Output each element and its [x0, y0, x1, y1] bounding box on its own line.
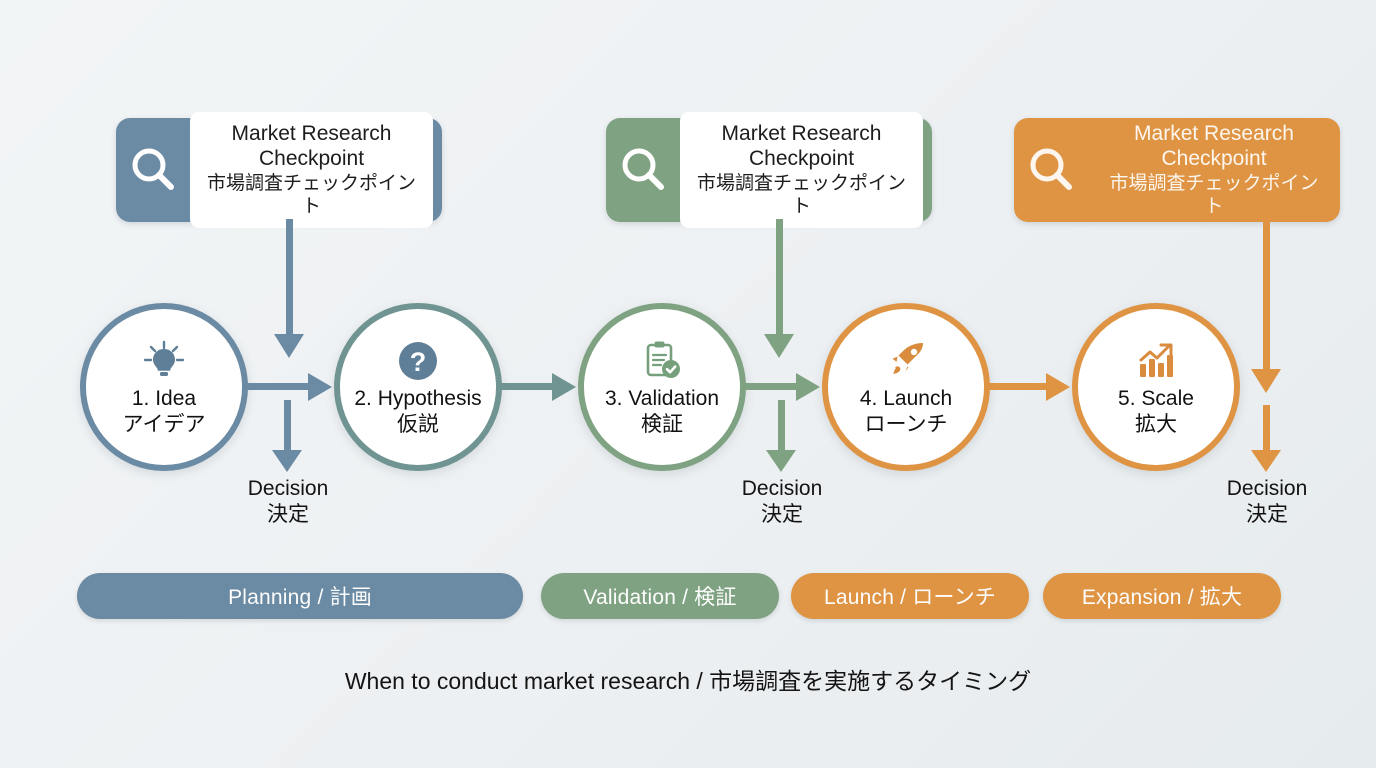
- checkpoint-title-jp: 市場調査チェックポイント: [690, 172, 913, 218]
- stage-node-label: 1. Idea アイデア: [123, 386, 206, 438]
- legend-pill-label: Launch / ローンチ: [824, 581, 996, 611]
- stage-node-scale[interactable]: 5. Scale 拡大: [1072, 303, 1240, 471]
- checkpoint-title-en-2: Checkpoint: [259, 147, 364, 170]
- checkpoint-3-connector-arrowhead: [1251, 369, 1281, 393]
- svg-text:?: ?: [410, 347, 427, 377]
- decision-arrow-2-head: [766, 450, 796, 472]
- checkpoint-1-connector-stem: [286, 219, 293, 334]
- decision-arrow-3-stem: [1263, 405, 1270, 450]
- flow-arrow-1-stem: [246, 383, 308, 390]
- legend-pill-label: Validation / 検証: [583, 581, 736, 611]
- flow-arrow-2-head: [552, 373, 576, 401]
- clipboard-check-icon: [639, 336, 685, 384]
- stage-label-jp: ローンチ: [860, 412, 952, 438]
- magnifier-icon: [606, 141, 680, 199]
- flow-arrow-1-head: [308, 373, 332, 401]
- stage-label-jp: 拡大: [1118, 412, 1194, 438]
- magnifier-icon: [116, 141, 190, 199]
- stage-label-jp: アイデア: [123, 412, 206, 438]
- question-mark-icon: ?: [395, 336, 441, 384]
- stage-node-label: 5. Scale 拡大: [1118, 386, 1194, 438]
- stage-node-label: 2. Hypothesis 仮説: [354, 386, 481, 438]
- checkpoint-card-text: Market Research Checkpoint 市場調査チェックポイント: [680, 112, 923, 229]
- stage-node-validation[interactable]: 3. Validation 検証: [578, 303, 746, 471]
- stage-node-launch[interactable]: 4. Launch ローンチ: [822, 303, 990, 471]
- decision-arrow-1-head: [272, 450, 302, 472]
- legend-pill-label: Planning / 計画: [228, 581, 372, 611]
- decision-label-en: Decision: [248, 477, 329, 500]
- checkpoint-card-text: Market Research Checkpoint 市場調査チェックポイント: [1098, 112, 1330, 229]
- diagram-caption: When to conduct market research / 市場調査を実…: [0, 662, 1376, 696]
- decision-arrow-1-stem: [284, 400, 291, 450]
- stage-label-en: 2. Hypothesis: [354, 387, 481, 410]
- decision-label-en: Decision: [742, 477, 823, 500]
- checkpoint-title-en-2: Checkpoint: [1161, 147, 1266, 170]
- decision-arrow-2-stem: [778, 400, 785, 450]
- stage-label-jp: 検証: [605, 412, 719, 438]
- magnifier-icon: [1014, 141, 1088, 199]
- legend-pill-expansion[interactable]: Expansion / 拡大: [1043, 573, 1281, 619]
- decision-arrow-3-head: [1251, 450, 1281, 472]
- stage-label-en: 3. Validation: [605, 387, 719, 410]
- checkpoint-title-jp: 市場調査チェックポイント: [200, 172, 423, 218]
- stage-node-label: 4. Launch ローンチ: [860, 386, 952, 438]
- checkpoint-card-validation[interactable]: Market Research Checkpoint 市場調査チェックポイント: [606, 118, 932, 222]
- decision-label-en: Decision: [1227, 477, 1308, 500]
- checkpoint-title-en-1: Market Research: [232, 122, 392, 145]
- stage-node-hypothesis[interactable]: ? 2. Hypothesis 仮説: [334, 303, 502, 471]
- growth-chart-icon: [1133, 336, 1179, 384]
- legend-pill-planning[interactable]: Planning / 計画: [77, 573, 523, 619]
- legend-pill-label: Expansion / 拡大: [1082, 581, 1242, 611]
- legend-pill-validation[interactable]: Validation / 検証: [541, 573, 779, 619]
- decision-label-jp: 決定: [198, 502, 378, 528]
- flow-arrow-4-head: [1046, 373, 1070, 401]
- stage-label-en: 4. Launch: [860, 387, 952, 410]
- decision-label-planning: Decision 決定: [198, 476, 378, 528]
- decision-label-validation: Decision 決定: [692, 476, 872, 528]
- decision-label-expansion: Decision 決定: [1177, 476, 1357, 528]
- checkpoint-card-expansion[interactable]: Market Research Checkpoint 市場調査チェックポイント: [1014, 118, 1340, 222]
- checkpoint-2-connector-stem: [776, 219, 783, 334]
- checkpoint-title-en-2: Checkpoint: [749, 147, 854, 170]
- decision-label-jp: 決定: [692, 502, 872, 528]
- flow-arrow-2-stem: [500, 383, 552, 390]
- stage-label-en: 5. Scale: [1118, 387, 1194, 410]
- stage-node-idea[interactable]: 1. Idea アイデア: [80, 303, 248, 471]
- flow-arrow-4-stem: [988, 383, 1046, 390]
- stage-label-en: 1. Idea: [132, 387, 196, 410]
- diagram-canvas: Market Research Checkpoint 市場調査チェックポイント …: [0, 0, 1376, 768]
- rocket-icon: [883, 336, 929, 384]
- checkpoint-3-connector-stem: [1263, 219, 1270, 369]
- checkpoint-title-jp: 市場調査チェックポイント: [1108, 172, 1320, 218]
- checkpoint-title-en-1: Market Research: [1134, 122, 1294, 145]
- lightbulb-icon: [141, 336, 187, 384]
- checkpoint-1-connector-arrowhead: [274, 334, 304, 358]
- stage-node-label: 3. Validation 検証: [605, 386, 719, 438]
- checkpoint-card-planning[interactable]: Market Research Checkpoint 市場調査チェックポイント: [116, 118, 442, 222]
- checkpoint-2-connector-arrowhead: [764, 334, 794, 358]
- flow-arrow-3-head: [796, 373, 820, 401]
- flow-arrow-3-stem: [744, 383, 796, 390]
- stage-label-jp: 仮説: [354, 412, 481, 438]
- checkpoint-card-text: Market Research Checkpoint 市場調査チェックポイント: [190, 112, 433, 229]
- decision-label-jp: 決定: [1177, 502, 1357, 528]
- legend-pill-launch[interactable]: Launch / ローンチ: [791, 573, 1029, 619]
- checkpoint-title-en-1: Market Research: [722, 122, 882, 145]
